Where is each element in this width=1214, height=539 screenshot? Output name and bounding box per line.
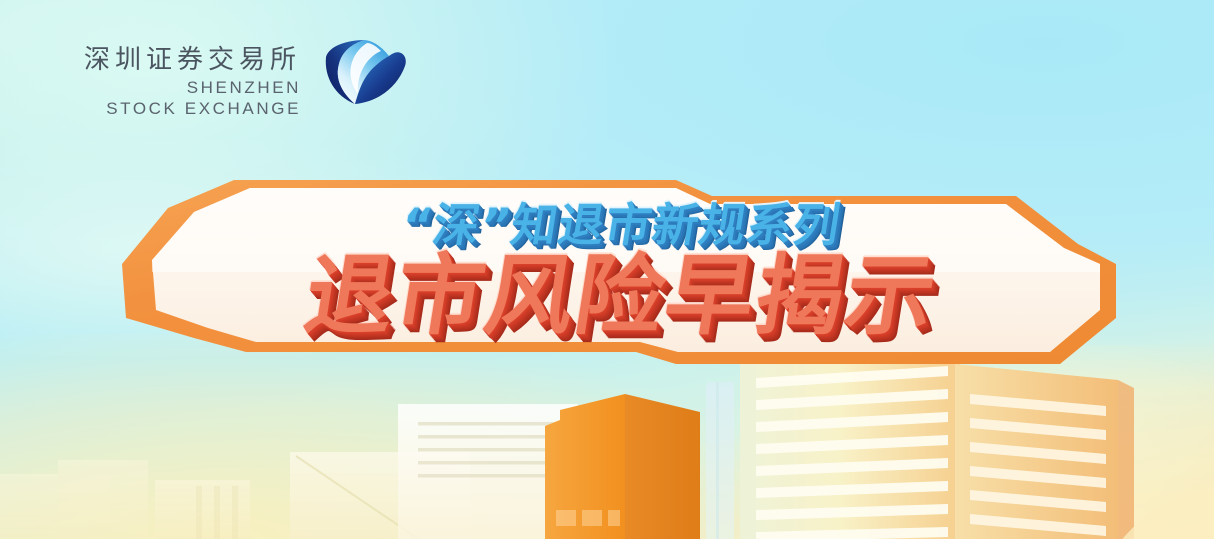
- logo-name-en-line2: STOCK EXCHANGE: [106, 99, 301, 119]
- szse-logo: 深圳证券交易所 SHENZHEN STOCK EXCHANGE: [84, 46, 409, 119]
- szse-leaf-logo-icon: [315, 30, 409, 114]
- banner-stage: 深圳证券交易所 SHENZHEN STOCK EXCHANGE: [0, 0, 1214, 539]
- logo-name-cn: 深圳证券交易所: [84, 46, 301, 75]
- title-plaque: “深”知退市新规系列 退市风险早揭示: [116, 168, 1126, 370]
- logo-text-block: 深圳证券交易所 SHENZHEN STOCK EXCHANGE: [84, 46, 301, 119]
- logo-name-en-line1: SHENZHEN: [187, 78, 301, 98]
